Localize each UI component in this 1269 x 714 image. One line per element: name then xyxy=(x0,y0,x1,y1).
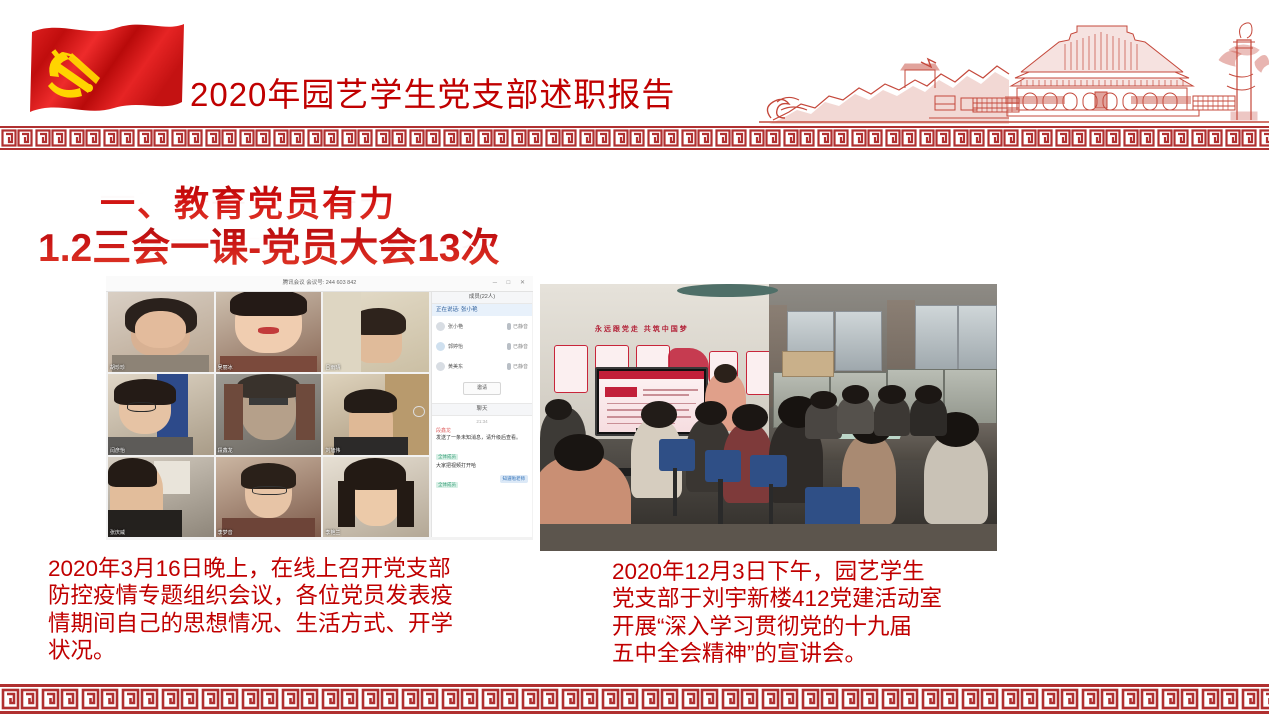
window-controls[interactable]: ─ □ ✕ xyxy=(493,279,529,286)
microphone-icon[interactable] xyxy=(507,343,511,350)
meeting-side-panel: 成员(22人) 正在说话: 张小艳 张小艳 已静音 郭婷怡 已静音 黄美东 已静… xyxy=(431,292,532,537)
active-speaker-label: 正在说话: 张小艳 xyxy=(432,304,532,316)
cpc-party-flag-icon xyxy=(26,16,188,125)
chat-panel: 21:34 段鑫龙 发送了一条未知消息，请升级后查看。 全体成员 大家把视频打开… xyxy=(432,416,532,494)
classroom-scene: 永远跟党走 共筑中国梦 xyxy=(540,284,997,551)
audience-head xyxy=(641,401,678,428)
classroom-chair xyxy=(705,450,742,482)
classroom-chair xyxy=(659,439,696,471)
window-pane xyxy=(835,311,883,372)
page-title: 2020年园艺学生党支部述职报告 xyxy=(190,68,675,116)
meeting-window-title: 腾讯会议 会议号: 244 603 842 xyxy=(283,278,357,286)
participant-tile[interactable]: 闫彦怡 xyxy=(108,374,214,454)
classroom-chair xyxy=(750,455,787,487)
participant-name: 段鑫龙 xyxy=(218,447,233,454)
audience-head xyxy=(878,385,905,404)
window-pane xyxy=(915,305,958,371)
left-photo-caption: 2020年3月16日晚上，在线上召开党支部 防控疫情专题组织会议，各位党员发表疫… xyxy=(48,555,548,665)
screen-agenda-box xyxy=(605,387,637,397)
invite-button[interactable]: 邀请 xyxy=(463,382,501,395)
chair-leg xyxy=(673,468,678,516)
cardboard-box xyxy=(782,351,834,377)
member-status: 已静音 xyxy=(513,343,528,350)
floor xyxy=(540,524,997,551)
wall-banner-text: 永远跟党走 共筑中国梦 xyxy=(595,324,689,334)
participant-name: 李梦音 xyxy=(218,529,233,536)
member-name: 黄美东 xyxy=(448,363,463,370)
microphone-icon[interactable] xyxy=(507,323,511,330)
bottom-decorative-border xyxy=(0,684,1269,714)
member-status: 已静音 xyxy=(513,323,528,330)
window-pane xyxy=(958,305,997,371)
right-photo-caption: 2020年12月3日下午，园艺学生 党支部于刘宇新楼412党建活动室 开展“深入… xyxy=(612,558,1032,668)
wall-panel xyxy=(554,345,588,392)
audience-head xyxy=(842,385,869,404)
participant-tile[interactable]: 李梦音 xyxy=(216,457,322,537)
members-header: 成员(22人) xyxy=(432,292,532,304)
participant-name: 刘旭伟 xyxy=(325,447,340,454)
participant-tile[interactable]: 刘旭伟 xyxy=(323,374,429,454)
slide-subheading: 1.2三会一课-党员大会13次 xyxy=(38,217,500,273)
participant-tile[interactable]: 胡珍珍 xyxy=(108,292,214,372)
audience-head xyxy=(554,434,604,471)
participant-tile[interactable]: 吕雨晴 xyxy=(323,292,429,372)
participant-name: 吴丽冰 xyxy=(218,364,233,371)
meeting-window-titlebar: 腾讯会议 会议号: 244 603 842 ─ □ ✕ xyxy=(106,276,533,292)
screen-header-bar xyxy=(599,371,704,380)
chat-sender: 段鑫龙 xyxy=(436,427,528,434)
member-row[interactable]: 黄美东 已静音 xyxy=(432,356,532,376)
chat-audience-tag: 全体成员 xyxy=(436,482,458,488)
participant-name: 张庆威 xyxy=(110,529,125,536)
slide-title-block: 一、教育党员有力 一、教育党员有力 1.2三会一课-党员大会13次 1.2三会一… xyxy=(0,176,560,272)
audience-head xyxy=(545,399,572,420)
chat-message: 大家把视频打开哈 xyxy=(436,463,528,470)
participant-name: 李艳兰 xyxy=(325,529,340,536)
avatar xyxy=(436,362,445,371)
chat-header: 聊天 xyxy=(432,403,532,416)
member-name: 张小艳 xyxy=(448,323,463,330)
top-decorative-border xyxy=(0,126,1269,150)
member-name: 郭婷怡 xyxy=(448,343,463,350)
chair-leg xyxy=(718,479,723,527)
participant-tile[interactable]: 李艳兰 xyxy=(323,457,429,537)
presenter-head xyxy=(714,364,737,383)
avatar xyxy=(436,322,445,331)
avatar xyxy=(436,342,445,351)
participant-name: 闫彦怡 xyxy=(110,447,125,454)
tiananmen-great-wall-lineart-icon xyxy=(759,0,1269,125)
participant-tile[interactable]: 张庆威 xyxy=(108,457,214,537)
slide-header: 2020年园艺学生党支部述职报告 xyxy=(0,0,1269,125)
online-meeting-screenshot: 腾讯会议 会议号: 244 603 842 ─ □ ✕ 胡珍珍 吴丽冰 吕雨晴 xyxy=(106,276,533,540)
chat-audience-tag: 全体成员 xyxy=(436,454,458,460)
chat-own-message: 知道啦老师 xyxy=(500,475,529,483)
chat-timestamp: 21:34 xyxy=(436,419,528,424)
participant-name: 胡珍珍 xyxy=(110,364,125,371)
participant-tile[interactable]: 吴丽冰 xyxy=(216,292,322,372)
member-row[interactable]: 郭婷怡 已静音 xyxy=(432,336,532,356)
microphone-icon[interactable] xyxy=(507,363,511,370)
classroom-lecture-photo: 永远跟党走 共筑中国梦 xyxy=(540,284,997,551)
chat-message: 发送了一条未知消息，请升级后查看。 xyxy=(436,435,528,442)
participant-video-grid: 胡珍珍 吴丽冰 吕雨晴 闫彦怡 xyxy=(108,292,429,537)
screen-line xyxy=(643,394,689,396)
audience-head xyxy=(732,404,769,431)
screen-line xyxy=(643,389,698,391)
member-status: 已静音 xyxy=(513,363,528,370)
participant-name: 吕雨晴 xyxy=(325,364,340,371)
participant-tile[interactable]: 段鑫龙 xyxy=(216,374,322,454)
audience-member xyxy=(924,434,988,525)
member-row[interactable]: 张小艳 已静音 xyxy=(432,316,532,336)
